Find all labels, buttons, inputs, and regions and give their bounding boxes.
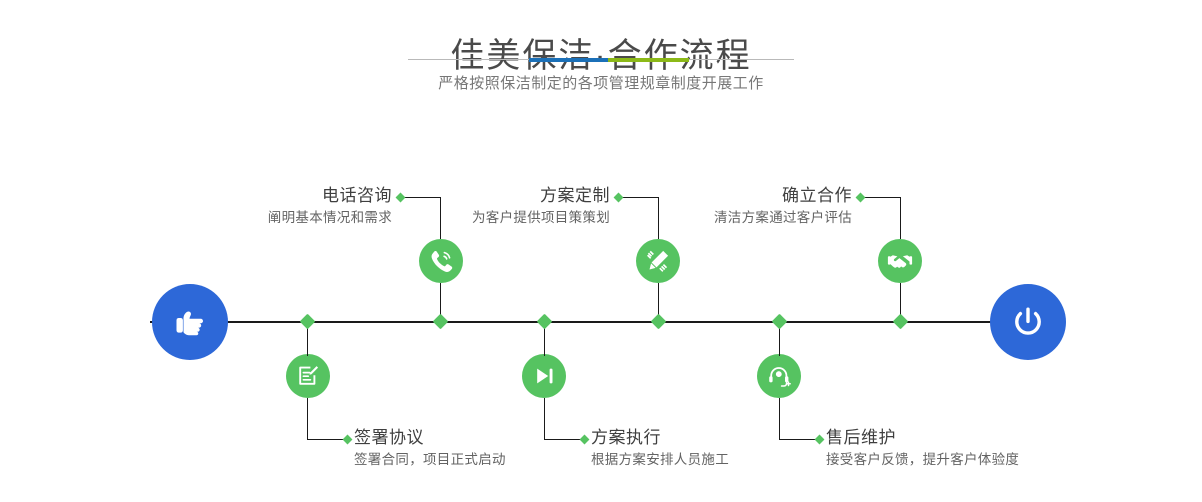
- timeline-start-node: [152, 284, 228, 360]
- step-6-icon-badge: [757, 354, 801, 398]
- step-5-label: 确立合作 清洁方案通过客户评估: [620, 185, 852, 229]
- page-subtitle: 严格按照保洁制定的各项管理规章制度开展工作: [0, 72, 1202, 96]
- step-4-icon-badge: [522, 354, 566, 398]
- contract-sign-icon: [295, 363, 321, 389]
- step-2-connector-down: [307, 398, 308, 439]
- timeline-axis: [150, 321, 1052, 323]
- divider-segment-blue: [529, 58, 608, 62]
- play-execute-icon: [531, 363, 557, 389]
- step-4-connector-h: [544, 439, 584, 440]
- step-5-axis-node: [893, 314, 909, 330]
- step-4-desc: 根据方案安排人员施工: [591, 449, 729, 471]
- step-6-axis-node: [772, 314, 788, 330]
- step-5-connector-up: [900, 197, 901, 239]
- step-2-label-dot: [343, 435, 353, 445]
- step-6-desc: 接受客户反馈，提升客户体验度: [826, 449, 1019, 471]
- step-2-label: 签署协议 签署合同，项目正式启动: [354, 427, 506, 471]
- pencil-ruler-icon: [645, 248, 671, 274]
- power-icon: [1007, 301, 1049, 343]
- step-6-title: 售后维护: [826, 427, 1019, 449]
- step-6-connector-h: [779, 439, 819, 440]
- step-6-connector-down: [779, 398, 780, 439]
- step-3-title: 方案定制: [380, 185, 610, 207]
- headset-support-icon: [766, 363, 792, 389]
- pointing-hand-icon: [169, 301, 211, 343]
- step-2-desc: 签署合同，项目正式启动: [354, 449, 506, 471]
- divider-segment-green: [608, 58, 689, 62]
- step-5-icon-badge: [878, 239, 922, 283]
- step-5-title: 确立合作: [620, 185, 852, 207]
- step-4-label: 方案执行 根据方案安排人员施工: [591, 427, 729, 471]
- title-divider: [408, 58, 794, 62]
- step-5-desc: 清洁方案通过客户评估: [620, 207, 852, 229]
- phone-call-icon: [428, 248, 454, 274]
- step-1-axis-node: [433, 314, 449, 330]
- step-2-icon-badge: [286, 354, 330, 398]
- step-2-axis-node: [300, 314, 316, 330]
- step-3-desc: 为客户提供项目策策划: [380, 207, 610, 229]
- step-3-icon-badge: [636, 239, 680, 283]
- step-1-desc: 阐明基本情况和需求: [160, 207, 392, 229]
- handshake-icon: [887, 248, 913, 274]
- step-5-connector-h: [860, 197, 901, 198]
- step-6-label: 售后维护 接受客户反馈，提升客户体验度: [826, 427, 1019, 471]
- step-4-label-dot: [580, 435, 590, 445]
- step-4-connector-down: [544, 398, 545, 439]
- step-1-label: 电话咨询 阐明基本情况和需求: [160, 185, 392, 229]
- step-6-label-dot: [815, 435, 825, 445]
- step-2-title: 签署协议: [354, 427, 506, 449]
- step-3-axis-node: [651, 314, 667, 330]
- timeline-end-node: [990, 284, 1066, 360]
- step-4-title: 方案执行: [591, 427, 729, 449]
- step-2-connector-h: [307, 439, 347, 440]
- step-3-label: 方案定制 为客户提供项目策策划: [380, 185, 610, 229]
- step-1-title: 电话咨询: [160, 185, 392, 207]
- step-5-label-dot: [856, 193, 866, 203]
- step-4-axis-node: [537, 314, 553, 330]
- step-1-icon-badge: [419, 239, 463, 283]
- process-flow-page: 佳美保洁·合作流程 严格按照保洁制定的各项管理规章制度开展工作: [0, 0, 1202, 502]
